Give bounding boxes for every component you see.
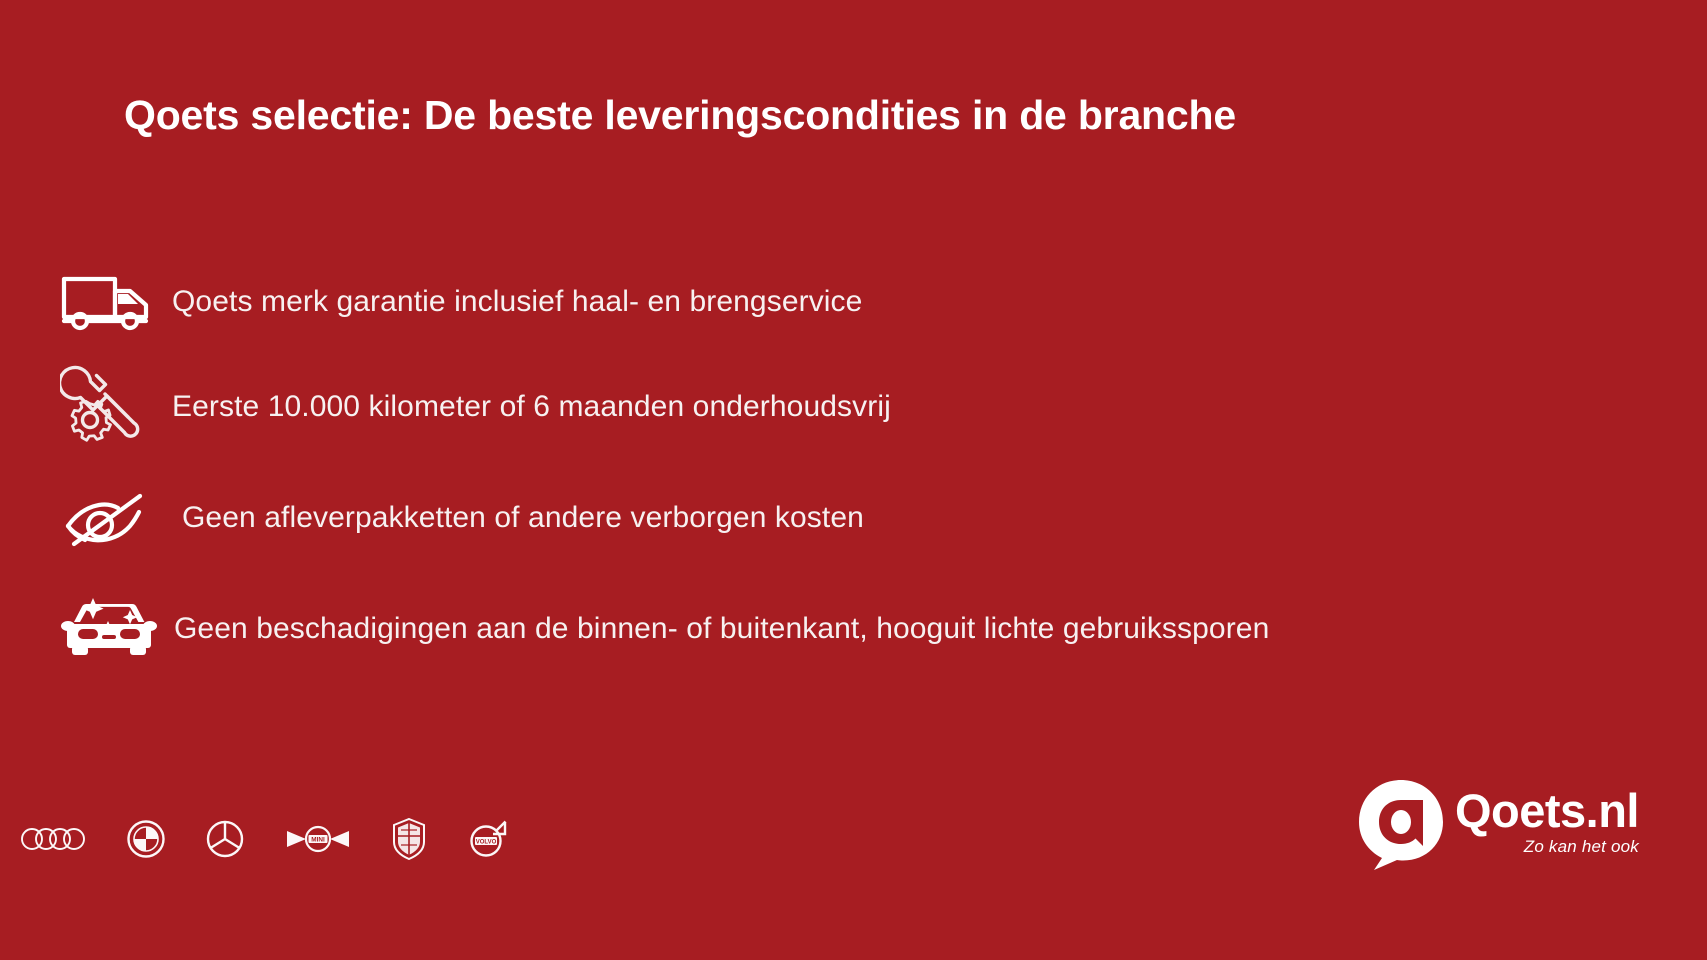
qoets-wordmark: Qoets.nl Zo kan het ook [1455, 789, 1639, 860]
list-item: Qoets merk garantie inclusief haal- en b… [52, 252, 1502, 352]
list-item-label: Qoets merk garantie inclusief haal- en b… [164, 285, 862, 319]
qoets-speech-mark-icon [1353, 776, 1449, 872]
wrench-gear-icon [52, 365, 164, 449]
porsche-logo [392, 818, 426, 865]
qoets-tagline: Zo kan het ook [1524, 837, 1639, 857]
mini-logo: MINI [285, 823, 351, 860]
audi-logo [20, 827, 86, 856]
bmw-logo [127, 820, 165, 863]
qoets-name: Qoets.nl [1455, 789, 1639, 834]
page-title: Qoets selectie: De beste leveringscondit… [124, 92, 1236, 139]
eye-off-icon [52, 476, 164, 560]
brand-logo-strip: MINI VOLVO [20, 818, 509, 865]
mercedes-benz-logo [206, 820, 244, 863]
svg-text:MINI: MINI [311, 837, 325, 844]
list-item: Geen beschadigingen aan de binnen- of bu… [52, 574, 1502, 684]
list-item: Geen afleverpakketten of andere verborge… [52, 462, 1502, 574]
svg-text:VOLVO: VOLVO [476, 840, 497, 846]
delivery-truck-icon [52, 260, 164, 344]
list-item-label: Geen beschadigingen aan de binnen- of bu… [164, 612, 1269, 646]
volvo-logo: VOLVO [467, 818, 509, 865]
list-item-label: Geen afleverpakketten of andere verborge… [164, 501, 864, 535]
list-item: Eerste 10.000 kilometer of 6 maanden ond… [52, 352, 1502, 462]
list-item-label: Eerste 10.000 kilometer of 6 maanden ond… [164, 390, 891, 424]
benefit-list: Qoets merk garantie inclusief haal- en b… [52, 252, 1502, 684]
car-damage-icon [52, 587, 164, 671]
qoets-logo: Qoets.nl Zo kan het ook [1353, 776, 1639, 872]
